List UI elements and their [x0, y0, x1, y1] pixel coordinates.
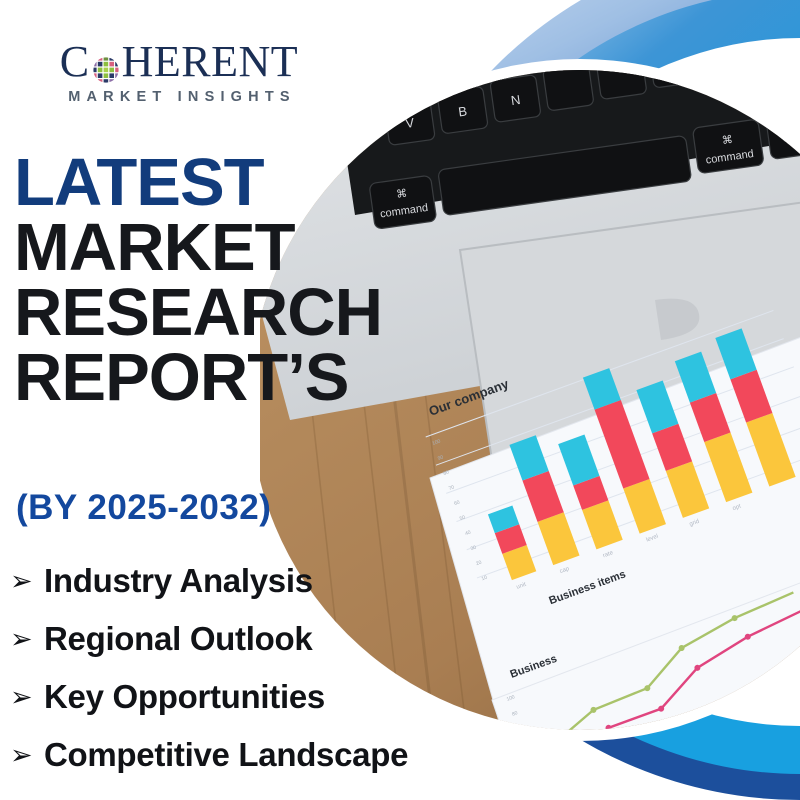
logo-tagline: MARKET INSIGHTS: [44, 89, 314, 105]
logo-wordmark-rest: HERENT: [122, 40, 299, 84]
list-item: ➢ Regional Outlook: [10, 610, 530, 668]
arrow-bullet-icon: ➢: [10, 568, 44, 595]
globe-grid-icon: [91, 49, 121, 79]
arrow-bullet-icon: ➢: [10, 684, 44, 711]
feature-list: ➢ Industry Analysis ➢ Regional Outlook ➢…: [10, 552, 530, 784]
logo-letter-c: C: [60, 40, 90, 84]
arrow-bullet-icon: ➢: [10, 626, 44, 653]
list-item: ➢ Key Opportunities: [10, 668, 530, 726]
headline-line-1: LATEST: [14, 150, 434, 215]
list-item: ➢ Industry Analysis: [10, 552, 530, 610]
logo-wordmark: C: [44, 40, 314, 84]
headline-line-2: MARKET: [14, 215, 434, 280]
arrow-bullet-icon: ➢: [10, 742, 44, 769]
brand-logo: C: [44, 40, 314, 105]
list-item-label: Key Opportunities: [44, 678, 325, 716]
list-item-label: Industry Analysis: [44, 562, 313, 600]
svg-text:⌘: ⌘: [721, 134, 734, 147]
list-item-label: Competitive Landscape: [44, 736, 408, 774]
list-item-label: Regional Outlook: [44, 620, 312, 658]
list-item: ➢ Competitive Landscape: [10, 726, 530, 784]
headline-line-3: RESEARCH: [14, 280, 434, 345]
poster-canvas: V B N ⌘ command ⌘ command option: [0, 0, 800, 800]
forecast-period: (BY 2025-2032): [16, 488, 271, 528]
page-title: LATEST MARKET RESEARCH REPORT’S: [14, 150, 434, 410]
headline-line-4: REPORT’S: [14, 345, 434, 410]
